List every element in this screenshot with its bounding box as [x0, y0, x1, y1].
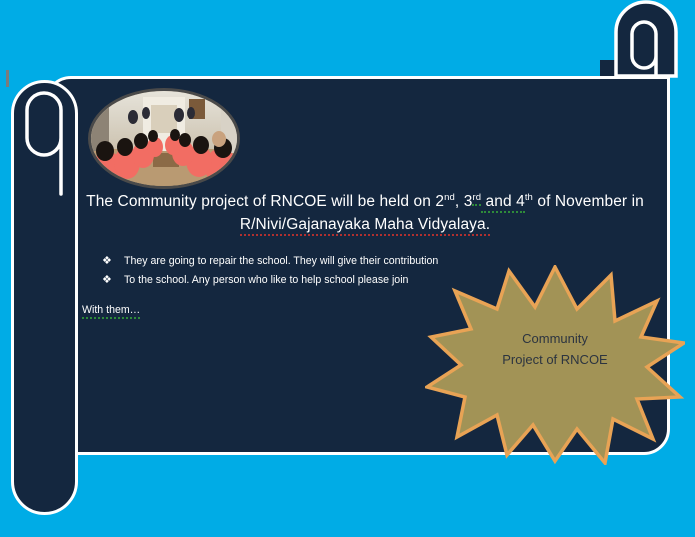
closing-text: With them… — [82, 304, 140, 319]
diamond-bullet-icon: ❖ — [102, 252, 112, 271]
headline-sup-1: nd — [444, 192, 455, 203]
headline-sup-2: rd — [472, 192, 481, 206]
diamond-bullet-icon: ❖ — [102, 271, 112, 290]
text-cursor-artifact — [6, 70, 9, 87]
headline-line-2: R/Nivi/Gajanayaka Maha Vidyalaya. — [240, 216, 490, 236]
headline-sup-3: th — [525, 192, 533, 203]
headline-part-1: The Community project of RNCOE will be h… — [86, 193, 444, 210]
headline-part-3: and 4 — [481, 193, 525, 213]
headline-part-4: of November in — [533, 193, 644, 210]
list-item-label: They are going to repair the school. The… — [124, 255, 438, 267]
corridor-photo — [88, 88, 240, 189]
starburst-callout — [425, 265, 685, 465]
list-item-label: To the school. Any person who like to he… — [124, 274, 408, 286]
headline: The Community project of RNCOE will be h… — [70, 190, 660, 236]
slide-canvas: The Community project of RNCOE will be h… — [0, 0, 695, 537]
left-banner-strip — [11, 80, 78, 515]
headline-part-2: , 3 — [455, 193, 473, 210]
